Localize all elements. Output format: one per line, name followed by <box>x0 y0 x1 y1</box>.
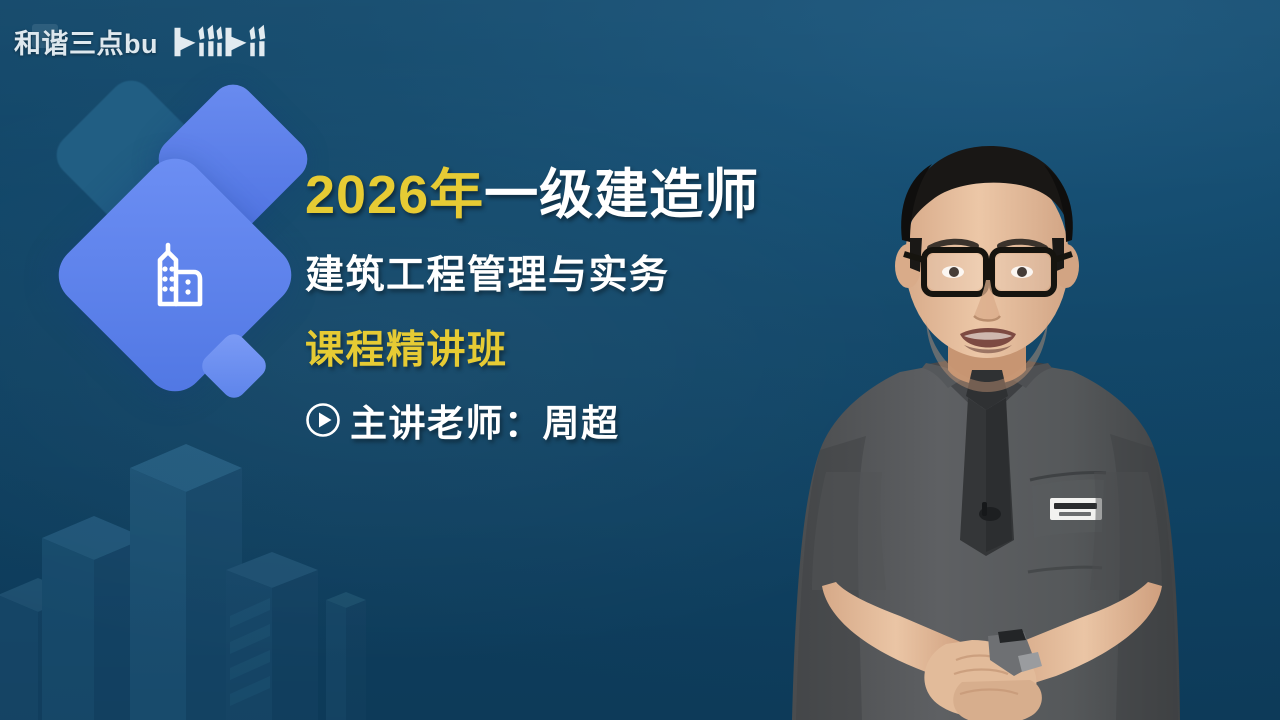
teacher-row: 主讲老师：周超 <box>305 393 865 447</box>
teacher-name: 主讲老师：周超 <box>350 393 620 447</box>
course-subject: 建筑工程管理与实务 <box>305 244 865 300</box>
bilibili-logo-icon <box>170 23 266 61</box>
course-class-type: 课程精讲班 <box>305 319 865 375</box>
building-icon <box>138 238 214 314</box>
square-watermark-icon <box>32 24 58 48</box>
course-logo <box>62 88 332 408</box>
watermark: 和谐三点bu <box>14 22 266 61</box>
course-year: 2026年 <box>305 165 484 225</box>
course-title-main: 2026年一级建造师 <box>305 166 865 224</box>
title-block: 2026年一级建造师 建筑工程管理与实务 课程精讲班 主讲老师：周超 <box>305 166 865 447</box>
course-level: 一级建造师 <box>484 165 759 225</box>
play-circle-icon <box>305 402 341 438</box>
video-frame: 2026年一级建造师 建筑工程管理与实务 课程精讲班 主讲老师：周超 和谐三点b… <box>0 0 1280 720</box>
